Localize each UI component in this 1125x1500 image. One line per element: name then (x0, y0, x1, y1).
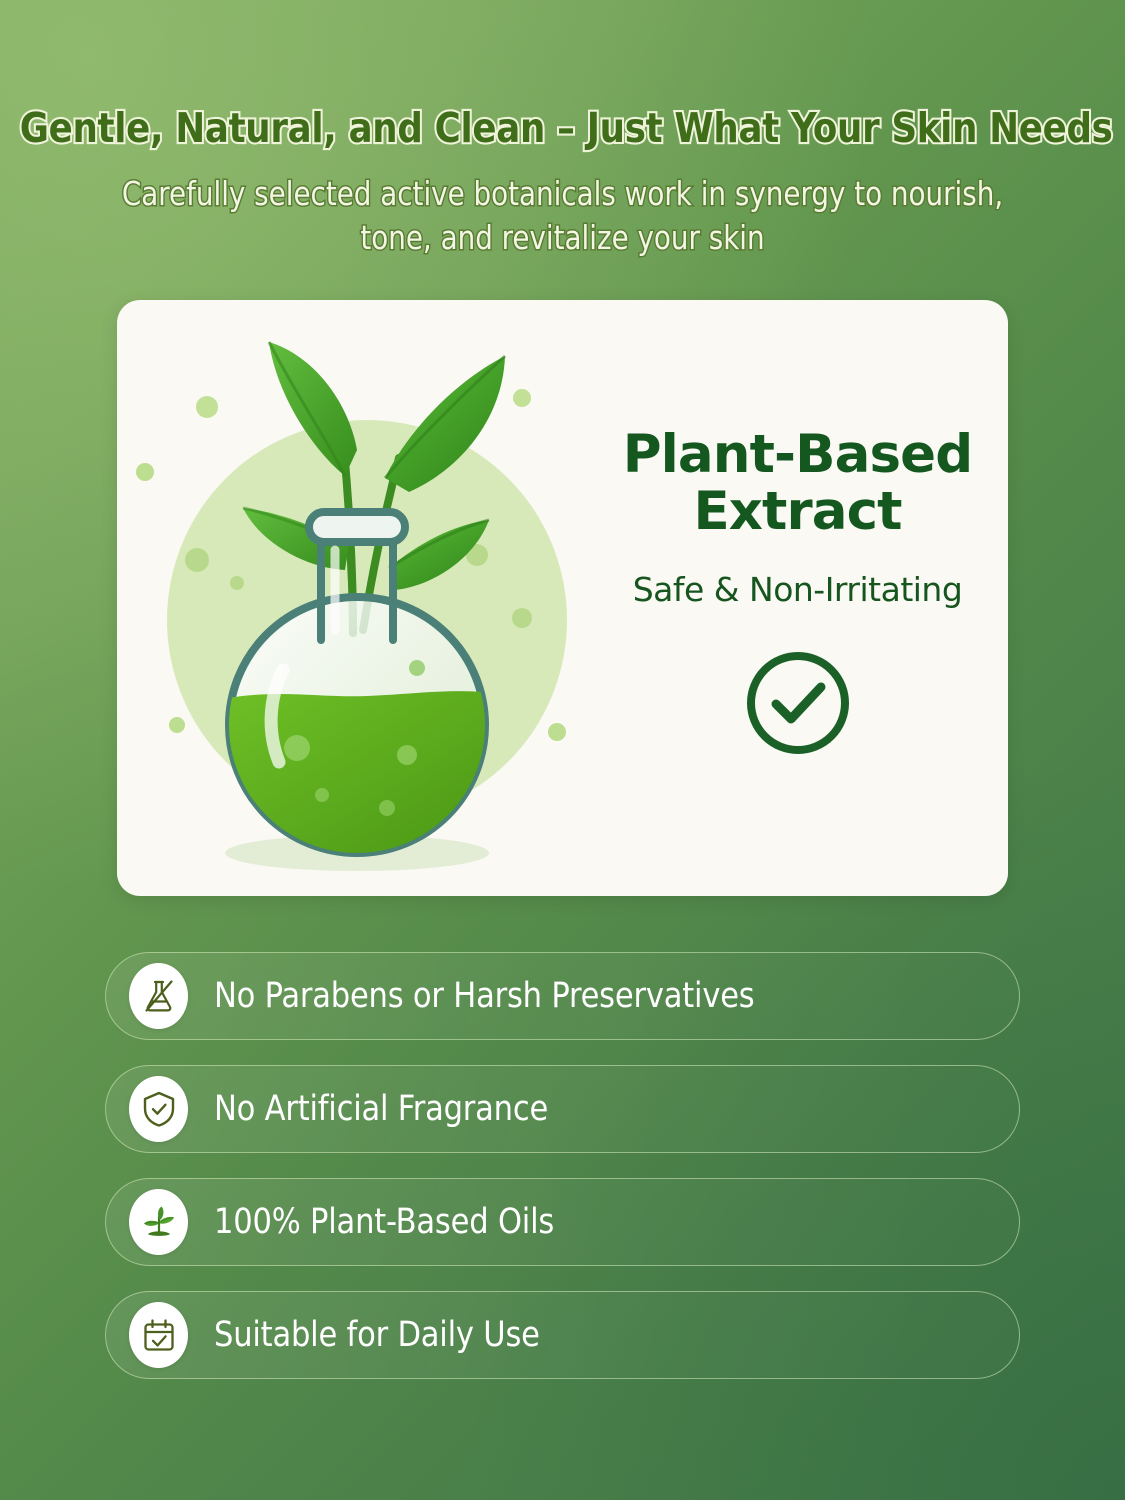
calendar-check-icon (129, 1302, 188, 1368)
page-subtitle-line-2: tone, and revitalize your skin (83, 216, 1042, 260)
feature-label: 100% Plant-Based Oils (214, 1202, 554, 1242)
feature-item-daily-use[interactable]: Suitable for Daily Use (105, 1291, 1020, 1379)
hero-title-line-2: Extract (623, 483, 973, 540)
header-block: Gentle, Natural, and Clean – Just What Y… (0, 104, 1125, 260)
feature-label: No Artificial Fragrance (214, 1089, 548, 1129)
page-title: Gentle, Natural, and Clean – Just What Y… (20, 104, 1106, 152)
feature-item-no-parabens[interactable]: No Parabens or Harsh Preservatives (105, 952, 1020, 1040)
shield-check-icon (129, 1076, 188, 1142)
feature-label: Suitable for Daily Use (214, 1315, 540, 1355)
hero-text-block: Plant-Based Extract Safe & Non-Irritatin… (587, 300, 1008, 896)
hero-card: Plant-Based Extract Safe & Non-Irritatin… (117, 300, 1008, 896)
feature-item-no-fragrance[interactable]: No Artificial Fragrance (105, 1065, 1020, 1153)
check-circle-icon (742, 647, 854, 764)
plant-in-flask-illustration (117, 300, 587, 896)
hero-title-line-1: Plant-Based (623, 424, 973, 485)
promo-infographic: Gentle, Natural, and Clean – Just What Y… (0, 0, 1125, 1500)
hero-subtitle: Safe & Non-Irritating (633, 570, 963, 609)
feature-item-plant-based-oils[interactable]: 100% Plant-Based Oils (105, 1178, 1020, 1266)
hero-title: Plant-Based Extract (623, 426, 973, 540)
seedling-icon (129, 1189, 188, 1255)
page-subtitle: Carefully selected active botanicals wor… (28, 172, 1097, 260)
no-flask-icon (129, 963, 188, 1029)
feature-label: No Parabens or Harsh Preservatives (214, 976, 755, 1016)
page-subtitle-line-1: Carefully selected active botanicals wor… (122, 175, 1003, 213)
feature-list: No Parabens or Harsh Preservatives No Ar… (105, 952, 1020, 1404)
